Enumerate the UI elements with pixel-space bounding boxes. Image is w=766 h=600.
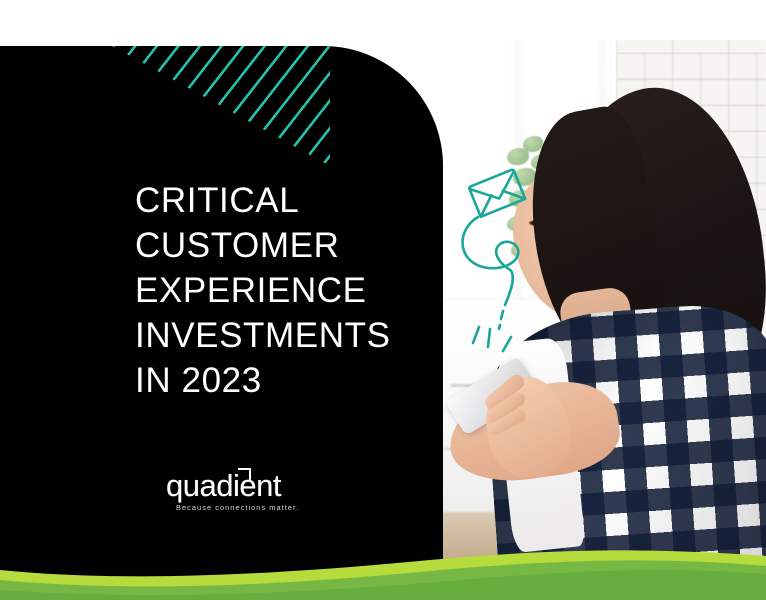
page-title: CRITICAL CUSTOMER EXPERIENCE INVESTMENTS… [135, 178, 435, 403]
corner-bracket-icon [238, 468, 251, 481]
hero-photo [443, 40, 766, 588]
diagonal-stripes [0, 46, 443, 176]
title-slide: CRITICAL CUSTOMER EXPERIENCE INVESTMENTS… [0, 0, 766, 600]
logo-wordmark: quadient [166, 470, 296, 501]
logo-tagline: Because connections matter. [176, 503, 299, 512]
green-wave-footer [0, 530, 766, 600]
quadient-logo: quadient Because connections matter. [166, 470, 296, 516]
black-content-panel: CRITICAL CUSTOMER EXPERIENCE INVESTMENTS… [0, 46, 443, 588]
